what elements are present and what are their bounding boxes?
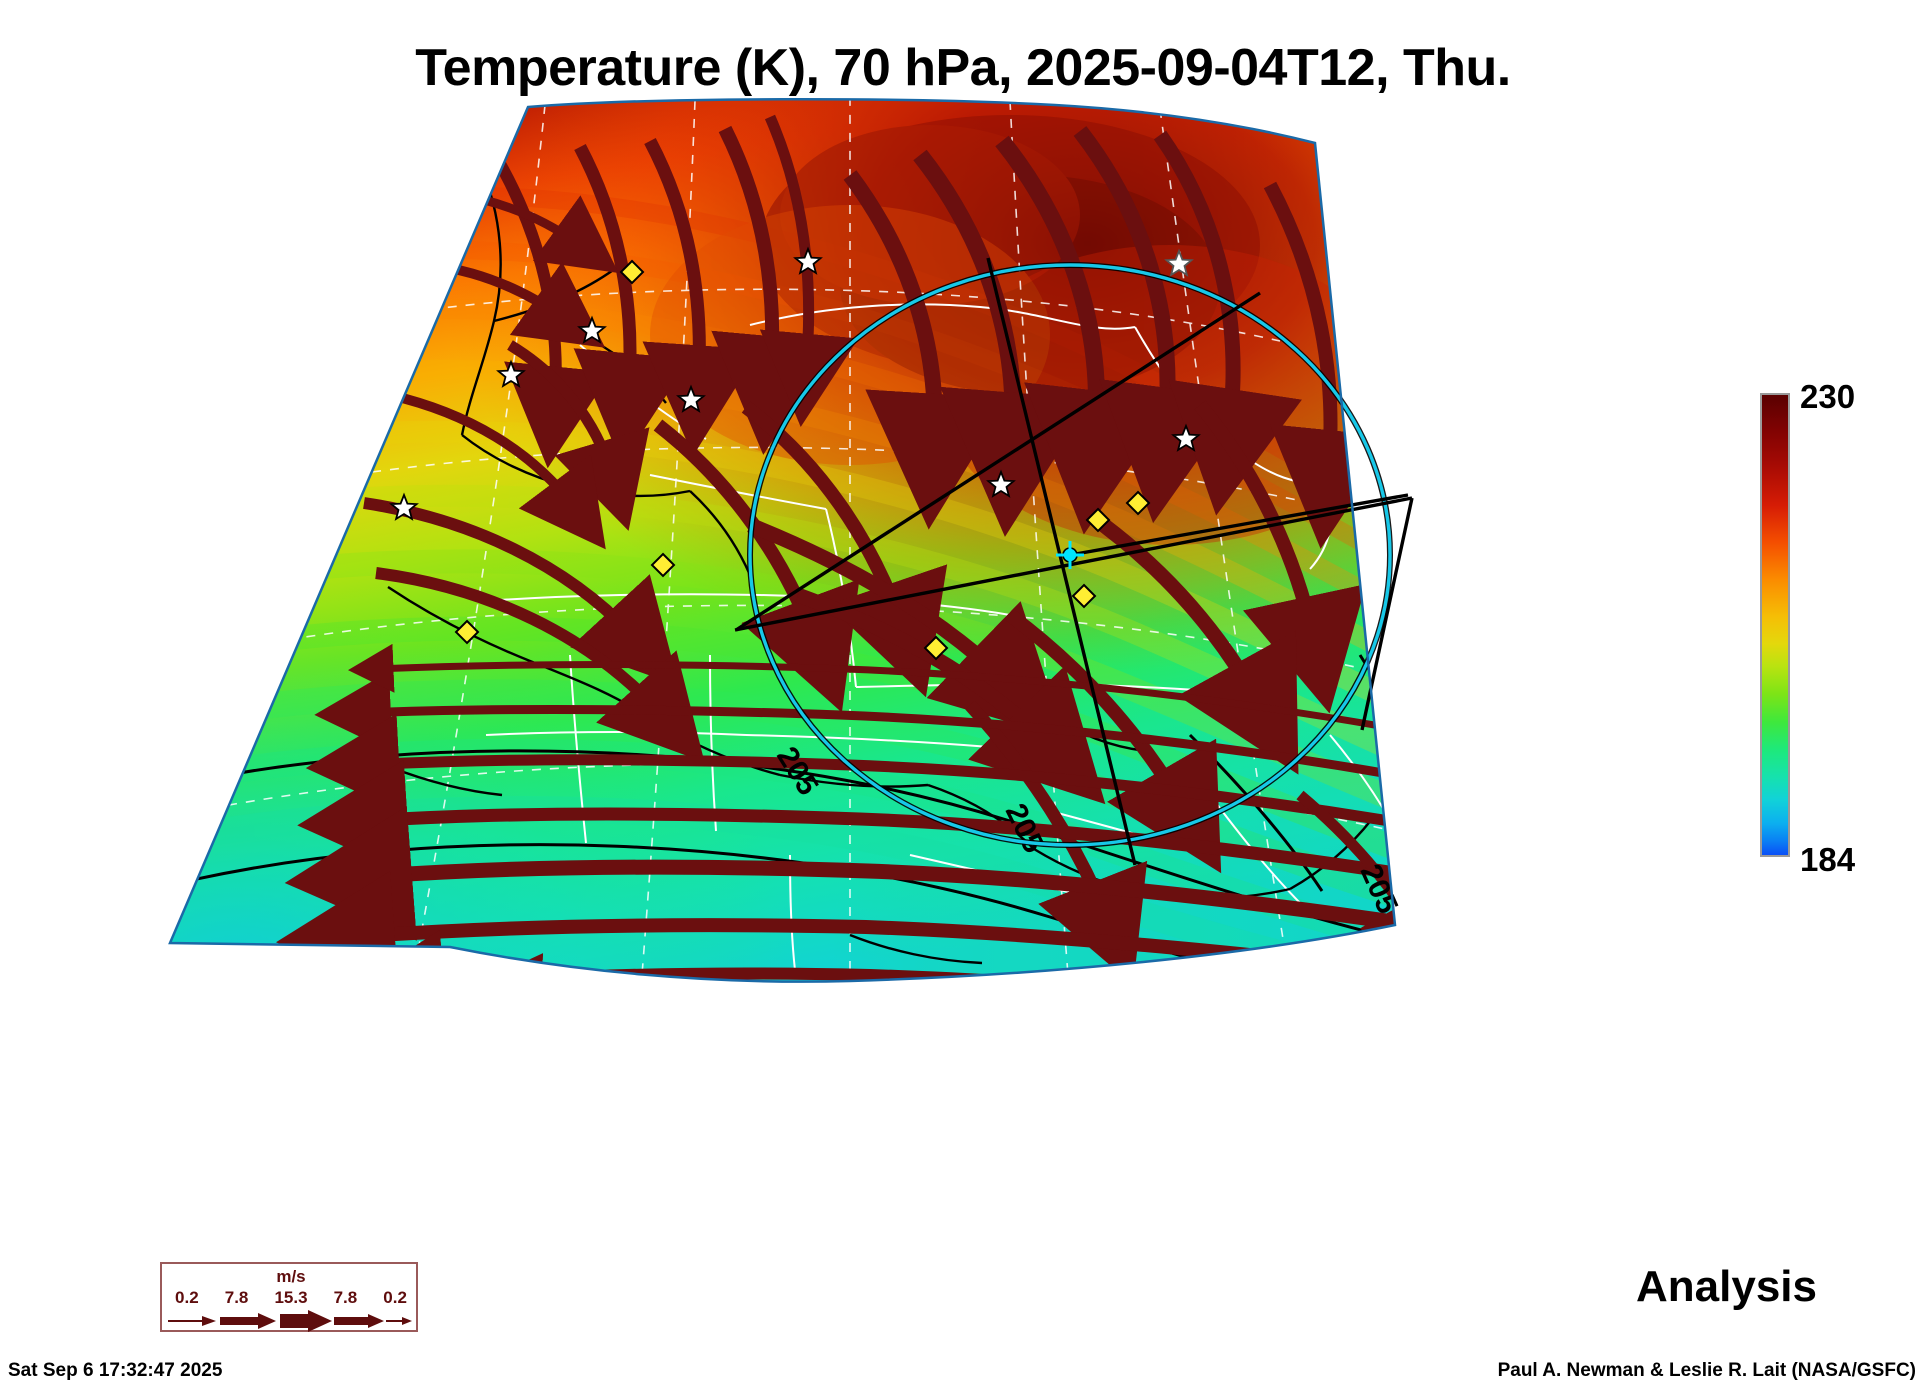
wind-scale-arrow <box>168 1310 414 1332</box>
wind-tick: 0.2 <box>175 1288 199 1308</box>
wind-tick-labels: 0.2 7.8 15.3 7.8 0.2 <box>162 1288 420 1308</box>
page-title: Temperature (K), 70 hPa, 2025-09-04T12, … <box>0 38 1926 98</box>
render-timestamp: Sat Sep 6 17:32:47 2025 <box>8 1360 222 1382</box>
credit-line: Paul A. Newman & Leslie R. Lait (NASA/GS… <box>1498 1360 1916 1382</box>
temperature-map[interactable]: 205 205 205 <box>150 95 1570 1025</box>
colorbar-min-label: 184 <box>1800 841 1855 879</box>
wind-tick: 0.2 <box>383 1288 407 1308</box>
wind-tick: 7.8 <box>225 1288 249 1308</box>
map-panel[interactable]: 205 205 205 <box>150 95 1570 1025</box>
wind-scale-legend: m/s 0.2 7.8 15.3 7.8 0.2 <box>160 1262 418 1332</box>
colorbar-max-label: 230 <box>1800 378 1855 416</box>
analysis-label: Analysis <box>1636 1262 1817 1312</box>
wind-unit-label: m/s <box>162 1267 420 1287</box>
figure-canvas: Temperature (K), 70 hPa, 2025-09-04T12, … <box>0 0 1926 1394</box>
colorbar[interactable] <box>1760 393 1790 857</box>
wind-tick: 15.3 <box>274 1288 307 1308</box>
wind-tick: 7.8 <box>334 1288 358 1308</box>
